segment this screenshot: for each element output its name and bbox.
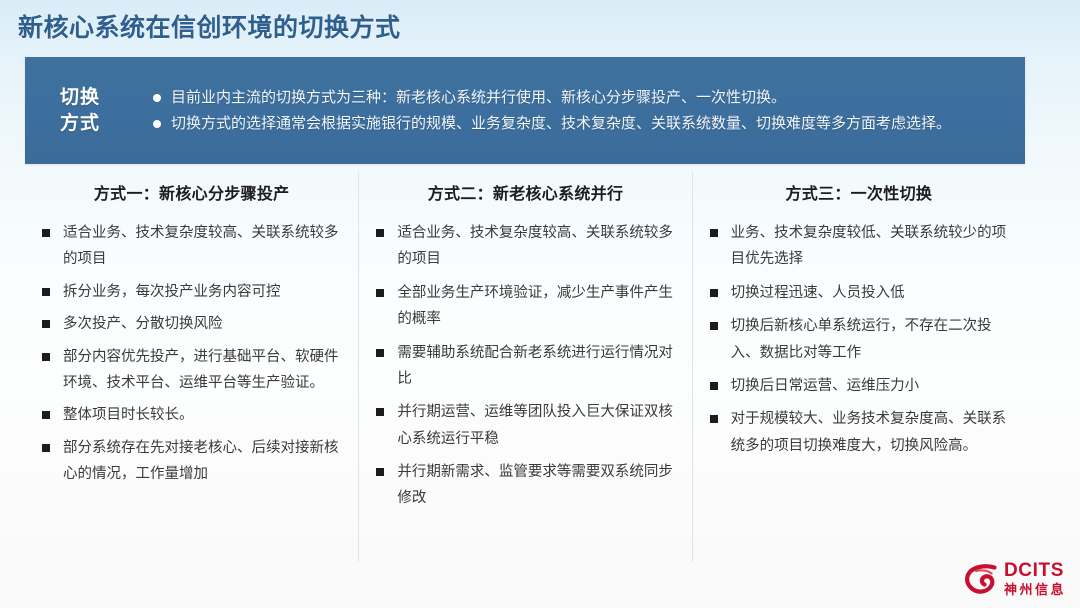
column-three-heading: 方式三：一次性切换	[707, 172, 1011, 220]
square-bullet-icon	[42, 229, 50, 237]
list-item: 多次投产、分散切换风险	[39, 311, 344, 337]
list-item-text: 对于规模较大、业务技术复杂度高、关联系统多的项目切换难度大，切换风险高。	[731, 411, 1007, 453]
bullet-dot-icon	[153, 120, 161, 128]
list-item-text: 业务、技术复杂度较低、关联系统较少的项目优先选择	[731, 225, 1007, 267]
list-item-text: 切换过程迅速、人员投入低	[731, 285, 905, 301]
list-item-text: 并行期运营、运维等团队投入巨大保证双核心系统运行平稳	[397, 404, 673, 446]
banner-body: 目前业内主流的切换方式为三种：新老核心系统并行使用、新核心分步骤投产、一次性切换…	[135, 57, 1025, 164]
column-three-list: 业务、技术复杂度较低、关联系统较少的项目优先选择 切换过程迅速、人员投入低 切换…	[707, 220, 1011, 459]
bullet-dot-icon	[153, 94, 161, 102]
list-item: 部分系统存在先对接老核心、后续对接新核心的情况，工作量增加	[39, 435, 344, 488]
list-item: 并行期运营、运维等团队投入巨大保证双核心系统运行平稳	[373, 399, 677, 452]
list-item-text: 部分系统存在先对接老核心、后续对接新核心的情况，工作量增加	[63, 440, 339, 482]
list-item-text: 整体项目时长较长。	[63, 407, 194, 423]
square-bullet-icon	[376, 229, 384, 237]
methods-columns: 方式一：新核心分步骤投产 适合业务、技术复杂度较高、关联系统较多的项目 拆分业务…	[25, 172, 1025, 562]
list-item: 适合业务、技术复杂度较高、关联系统较多的项目	[373, 220, 677, 273]
list-item-text: 部分内容优先投产，进行基础平台、软硬件环境、技术平台、运维平台等生产验证。	[63, 349, 339, 391]
list-item: 业务、技术复杂度较低、关联系统较少的项目优先选择	[707, 220, 1011, 273]
list-item: 切换后日常运营、运维压力小	[707, 373, 1011, 399]
square-bullet-icon	[710, 322, 718, 330]
logo-name-cn: 神州信息	[1004, 583, 1066, 596]
square-bullet-icon	[376, 289, 384, 297]
column-two-heading: 方式二：新老核心系统并行	[373, 172, 677, 220]
list-item-text: 适合业务、技术复杂度较高、关联系统较多的项目	[63, 225, 339, 267]
list-item: 拆分业务，每次投产业务内容可控	[39, 279, 344, 305]
square-bullet-icon	[42, 320, 50, 328]
list-item-text: 多次投产、分散切换风险	[63, 316, 223, 332]
banner-label: 切换 方式	[25, 57, 135, 164]
square-bullet-icon	[710, 289, 718, 297]
list-item: 对于规模较大、业务技术复杂度高、关联系统多的项目切换难度大，切换风险高。	[707, 406, 1011, 459]
list-item: 适合业务、技术复杂度较高、关联系统较多的项目	[39, 220, 344, 273]
square-bullet-icon	[42, 288, 50, 296]
square-bullet-icon	[42, 444, 50, 452]
banner-label-line1: 切换	[60, 85, 100, 111]
square-bullet-icon	[42, 411, 50, 419]
square-bullet-icon	[710, 229, 718, 237]
square-bullet-icon	[710, 415, 718, 423]
list-item: 并行期新需求、监管要求等需要双系统同步修改	[373, 459, 677, 512]
banner-label-line2: 方式	[60, 111, 100, 137]
banner-bullet-1: 目前业内主流的切换方式为三种：新老核心系统并行使用、新核心分步骤投产、一次性切换…	[151, 86, 1007, 110]
banner-bullet-2: 切换方式的选择通常会根据实施银行的规模、业务复杂度、技术复杂度、关联系统数量、切…	[151, 112, 1007, 136]
list-item-text: 需要辅助系统配合新老系统进行运行情况对比	[397, 345, 673, 387]
column-two-list: 适合业务、技术复杂度较高、关联系统较多的项目 全部业务生产环境验证，减少生产事件…	[373, 220, 677, 512]
banner-bullet-2-text: 切换方式的选择通常会根据实施银行的规模、业务复杂度、技术复杂度、关联系统数量、切…	[171, 115, 951, 132]
list-item: 部分内容优先投产，进行基础平台、软硬件环境、技术平台、运维平台等生产验证。	[39, 344, 344, 397]
dcits-swoosh-icon	[964, 563, 998, 595]
logo-name-en: DCITS	[1004, 561, 1066, 580]
square-bullet-icon	[376, 468, 384, 476]
logo-text: DCITS 神州信息	[1004, 561, 1066, 596]
square-bullet-icon	[376, 408, 384, 416]
list-item: 切换后新核心单系统运行，不存在二次投入、数据比对等工作	[707, 313, 1011, 366]
list-item-text: 并行期新需求、监管要求等需要双系统同步修改	[397, 464, 673, 506]
square-bullet-icon	[376, 349, 384, 357]
square-bullet-icon	[42, 353, 50, 361]
list-item-text: 拆分业务，每次投产业务内容可控	[63, 284, 281, 300]
square-bullet-icon	[710, 382, 718, 390]
company-logo: DCITS 神州信息	[964, 561, 1066, 596]
list-item-text: 全部业务生产环境验证，减少生产事件产生的概率	[397, 285, 673, 327]
list-item: 整体项目时长较长。	[39, 402, 344, 428]
list-item-text: 切换后新核心单系统运行，不存在二次投入、数据比对等工作	[731, 318, 992, 360]
column-method-one: 方式一：新核心分步骤投产 适合业务、技术复杂度较高、关联系统较多的项目 拆分业务…	[25, 172, 358, 562]
list-item: 全部业务生产环境验证，减少生产事件产生的概率	[373, 280, 677, 333]
column-one-heading: 方式一：新核心分步骤投产	[39, 172, 344, 220]
column-method-three: 方式三：一次性切换 业务、技术复杂度较低、关联系统较少的项目优先选择 切换过程迅…	[692, 172, 1025, 562]
switch-method-banner: 切换 方式 目前业内主流的切换方式为三种：新老核心系统并行使用、新核心分步骤投产…	[25, 57, 1025, 164]
list-item: 需要辅助系统配合新老系统进行运行情况对比	[373, 340, 677, 393]
page-title: 新核心系统在信创环境的切换方式	[18, 8, 401, 44]
list-item-text: 切换后日常运营、运维压力小	[731, 378, 920, 394]
list-item: 切换过程迅速、人员投入低	[707, 280, 1011, 306]
column-method-two: 方式二：新老核心系统并行 适合业务、技术复杂度较高、关联系统较多的项目 全部业务…	[358, 172, 691, 562]
banner-bullet-1-text: 目前业内主流的切换方式为三种：新老核心系统并行使用、新核心分步骤投产、一次性切换…	[171, 89, 786, 106]
list-item-text: 适合业务、技术复杂度较高、关联系统较多的项目	[397, 225, 673, 267]
column-one-list: 适合业务、技术复杂度较高、关联系统较多的项目 拆分业务，每次投产业务内容可控 多…	[39, 220, 344, 487]
